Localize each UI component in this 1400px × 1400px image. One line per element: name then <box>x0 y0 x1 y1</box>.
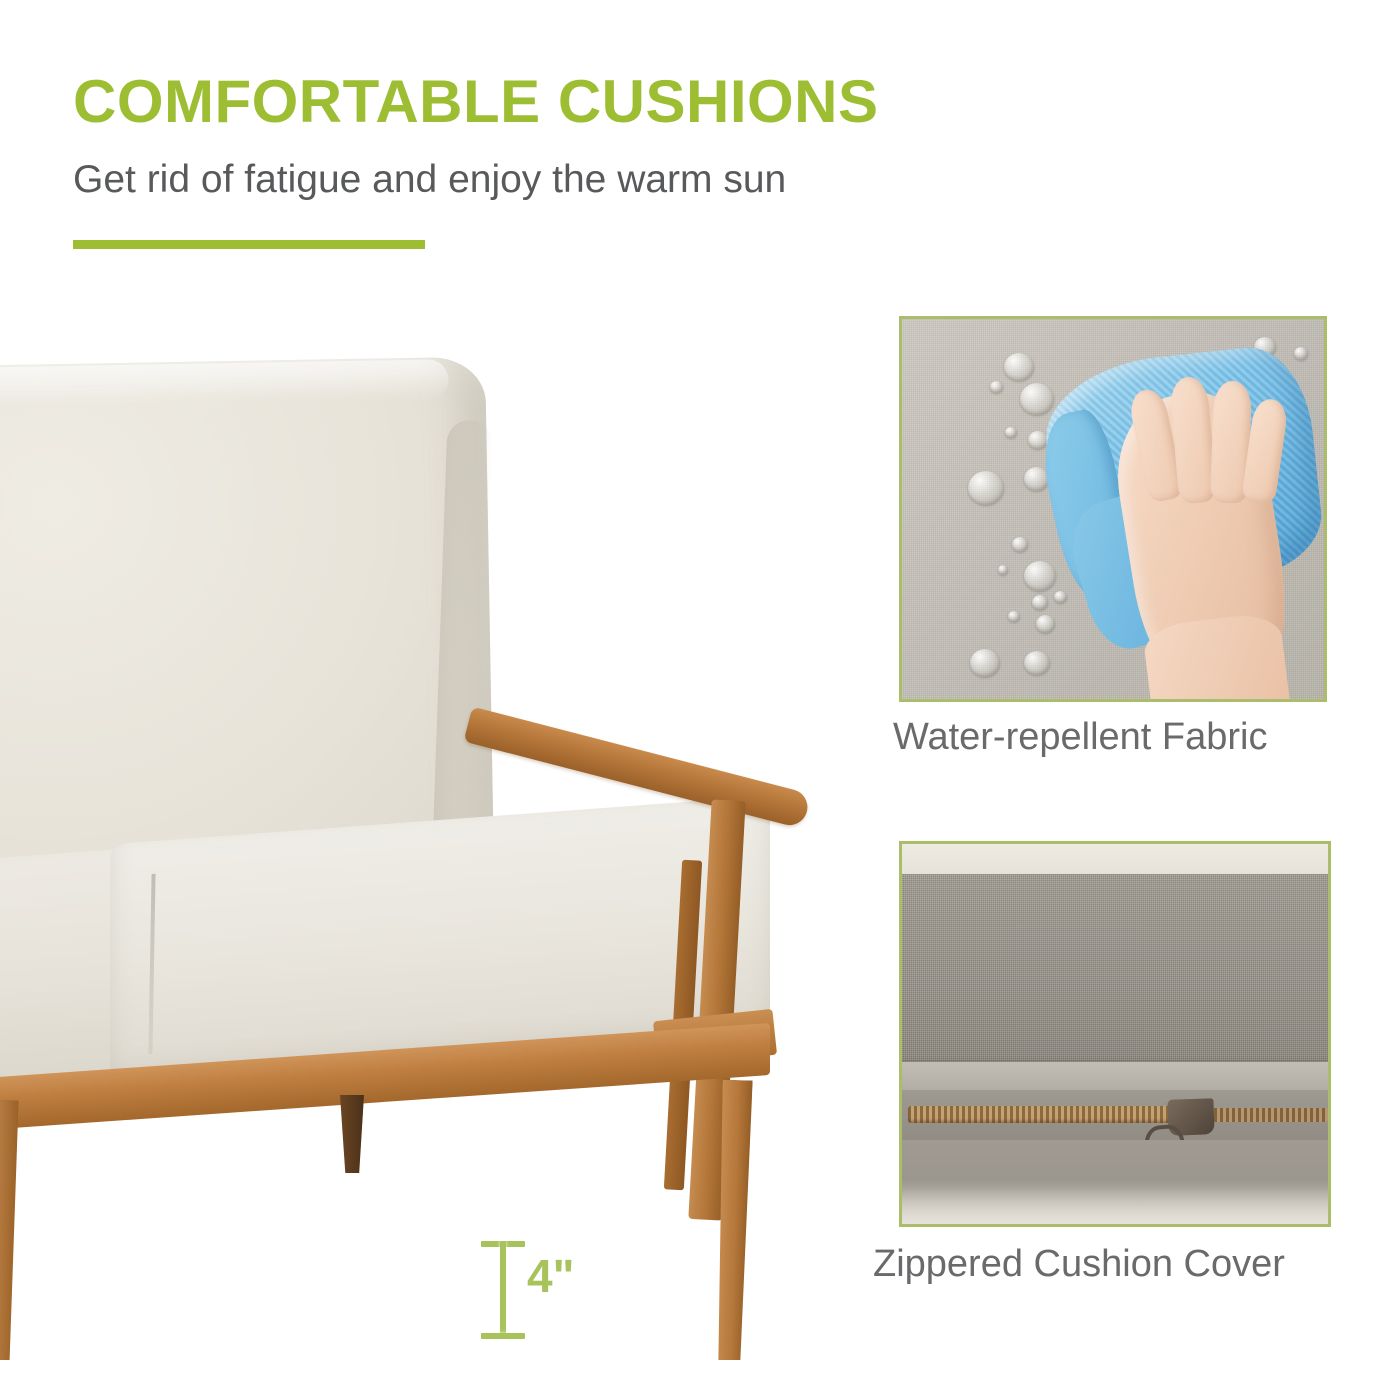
zipper-teeth <box>1208 1108 1328 1122</box>
page-title: COMFORTABLE CUSHIONS <box>73 72 1173 132</box>
water-droplet <box>1294 347 1308 360</box>
sofa-product-image: 4" <box>0 300 870 1360</box>
wooden-leg-rear <box>340 1095 364 1173</box>
water-droplet <box>998 565 1008 575</box>
dimension-bar <box>500 1241 506 1339</box>
page-subtitle: Get rid of fatigue and enjoy the warm su… <box>73 132 1173 199</box>
water-droplet <box>1005 427 1017 438</box>
cushion-lower-panel <box>902 1140 1328 1224</box>
title-underline-rule <box>73 240 425 249</box>
dimension-cap-bottom <box>481 1333 525 1339</box>
feature-caption-water-repellent: Water-repellent Fabric <box>893 718 1400 756</box>
wooden-leg-left <box>0 1100 19 1360</box>
water-droplet <box>1020 383 1054 415</box>
water-droplet <box>1036 615 1055 633</box>
header-block: COMFORTABLE CUSHIONS Get rid of fatigue … <box>73 72 1173 199</box>
cushion-thickness-label: 4" <box>527 1253 574 1299</box>
cushion-bottom-shadow <box>902 1180 1328 1224</box>
water-droplet <box>1054 591 1067 603</box>
water-droplet <box>1008 611 1020 622</box>
water-droplet <box>970 649 1000 677</box>
feature-image-zippered-cover <box>899 841 1331 1227</box>
zipper-teeth <box>908 1106 1208 1123</box>
water-droplet <box>990 381 1003 393</box>
water-droplet <box>1032 595 1048 610</box>
cushion-woven-fabric <box>902 874 1328 1074</box>
water-droplet <box>1012 537 1028 552</box>
water-droplet <box>968 471 1004 505</box>
water-droplet <box>1024 561 1056 591</box>
cushion-thickness-marker-icon <box>481 1241 525 1339</box>
water-droplet <box>1004 353 1034 381</box>
feature-image-water-repellent <box>899 316 1327 702</box>
water-droplet <box>1024 651 1050 675</box>
water-droplet <box>1028 431 1048 449</box>
feature-caption-zippered-cover: Zippered Cushion Cover <box>873 1245 1393 1283</box>
